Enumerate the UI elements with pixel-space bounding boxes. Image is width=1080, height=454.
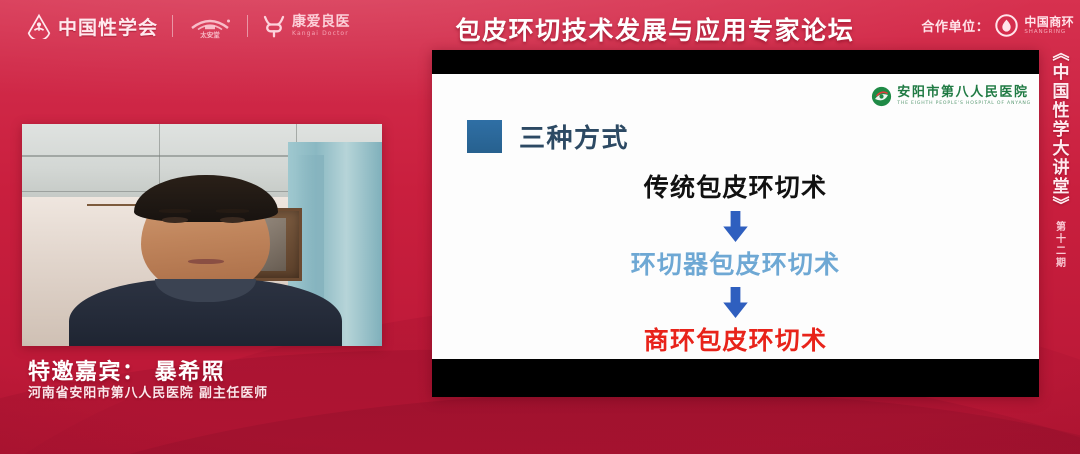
header-bar: 中国性学会 太安堂 bbox=[0, 0, 1080, 52]
logo-label-csa: 中国性学会 bbox=[58, 13, 158, 40]
shangring-wordmark: 中国商环 SHANGRING bbox=[1024, 16, 1074, 36]
arrow-down-icon-1 bbox=[719, 211, 752, 242]
page-title: 包皮环切技术发展与应用专家论坛 bbox=[430, 11, 880, 47]
slide-heading-text: 三种方式 bbox=[519, 118, 629, 155]
procedure-flow-diagram: 传统包皮环切术 环切器包皮环切术 商环包皮环切术 bbox=[432, 174, 1039, 355]
arrow-down-icon-2 bbox=[719, 287, 752, 318]
hospital-name-en: THE EIGHTH PEOPLE'S HOSPITAL OF ANYANG bbox=[897, 102, 1031, 107]
series-banner: 《中国性学大讲堂》 第十二期 bbox=[1038, 44, 1080, 269]
sex-association-logo-icon bbox=[26, 13, 52, 39]
presentation-slide[interactable]: 安阳市第八人民医院 THE EIGHTH PEOPLE'S HOSPITAL O… bbox=[432, 50, 1039, 397]
hospital-logo: 安阳市第八人民医院 THE EIGHTH PEOPLE'S HOSPITAL O… bbox=[871, 86, 1031, 107]
partner-label: 合作单位： bbox=[921, 16, 989, 35]
logo-label-kangai-en: Kangai Doctor bbox=[292, 31, 350, 37]
slide-content: 安阳市第八人民医院 THE EIGHTH PEOPLE'S HOSPITAL O… bbox=[432, 74, 1039, 359]
logo-kangai-doctor: 康爱良医 Kangai Doctor bbox=[262, 14, 350, 39]
logo-taiantang: 太安堂 bbox=[187, 13, 233, 39]
kangai-doctor-logo-icon bbox=[262, 14, 286, 39]
partner-name-en: SHANGRING bbox=[1024, 30, 1074, 36]
partner-block: 合作单位： 中国商环 SHANGRING bbox=[921, 14, 1074, 37]
slide-heading: 三种方式 bbox=[467, 118, 629, 155]
flow-step-1: 传统包皮环切术 bbox=[644, 174, 827, 202]
slide-letterbox-top bbox=[432, 50, 1039, 74]
hospital-wordmark: 安阳市第八人民医院 THE EIGHTH PEOPLE'S HOSPITAL O… bbox=[897, 86, 1031, 107]
logo-divider-1 bbox=[172, 15, 173, 37]
speaker-video-feed[interactable] bbox=[22, 124, 382, 346]
organizer-logos: 中国性学会 太安堂 bbox=[26, 10, 350, 42]
broadcast-screen: 中国性学会 太安堂 bbox=[0, 0, 1080, 454]
shangring-logo-icon bbox=[995, 14, 1018, 37]
heading-bullet-icon bbox=[467, 120, 502, 153]
kangai-doctor-wordmark: 康爱良医 Kangai Doctor bbox=[292, 15, 350, 37]
hospital-name-cn: 安阳市第八人民医院 bbox=[897, 86, 1031, 99]
flow-step-2: 环切器包皮环切术 bbox=[631, 251, 841, 279]
flow-step-3: 商环包皮环切术 bbox=[644, 327, 827, 355]
slide-letterbox-bottom bbox=[432, 359, 1039, 397]
partner-name-cn: 中国商环 bbox=[1024, 16, 1074, 28]
taiantang-logo-icon: 太安堂 bbox=[187, 13, 233, 39]
speaker-affiliation: 河南省安阳市第八人民医院 副主任医师 bbox=[28, 382, 268, 401]
logo-divider-2 bbox=[247, 15, 248, 37]
svg-text:太安堂: 太安堂 bbox=[199, 30, 220, 39]
hospital-emblem-icon bbox=[871, 86, 892, 107]
series-title: 《中国性学大讲堂》 bbox=[1047, 44, 1072, 215]
logo-label-kangai-cn: 康爱良医 bbox=[292, 15, 350, 29]
series-issue: 第十二期 bbox=[1052, 221, 1067, 269]
logo-china-sexology-association: 中国性学会 bbox=[26, 13, 158, 40]
video-vignette bbox=[22, 124, 382, 346]
